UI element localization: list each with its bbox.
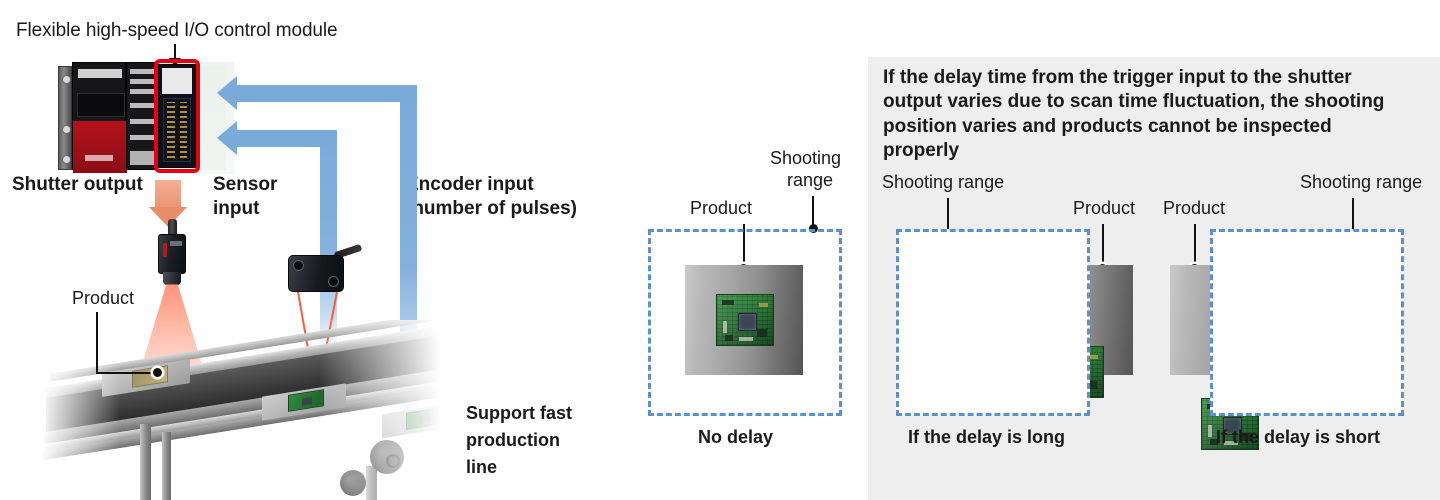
- sensor-input-label-line2: input: [213, 198, 259, 220]
- support-label-line1: Support fast: [466, 403, 572, 424]
- long-product-label: Product: [1073, 198, 1135, 219]
- delay-problem-heading: If the delay time from the trigger input…: [883, 66, 1428, 163]
- heading-line-1: If the delay time from the trigger input…: [883, 66, 1428, 90]
- camera-icon: [158, 234, 186, 274]
- long-shooting-range-label: Shooting range: [882, 172, 1004, 193]
- long-caption: If the delay is long: [908, 427, 1065, 448]
- photoelectric-sensor-icon: [288, 255, 344, 292]
- support-label-line2: production: [466, 430, 560, 451]
- short-product-label: Product: [1163, 198, 1225, 219]
- plc-slot-module-icon: [126, 62, 156, 170]
- middle-product-label: Product: [690, 198, 752, 219]
- plc-cpu-module-icon: [72, 62, 126, 170]
- plc-module-assembly: [58, 58, 234, 180]
- encoder-input-label-line2: (number of pulses): [406, 198, 577, 220]
- conveyor-product-leader-v: [96, 312, 98, 374]
- encoder-arrow-horizontal: [237, 85, 407, 102]
- heading-line-2: output varies due to scan time fluctuati…: [883, 90, 1428, 114]
- encoder-input-label-line1: Encoder input: [406, 174, 534, 196]
- heading-line-4: properly: [883, 139, 1428, 163]
- shutter-output-arrow-shaft: [155, 180, 181, 208]
- arrow-left-icon-2: [217, 121, 237, 155]
- conveyor-belt-icon: [40, 320, 440, 500]
- shutter-output-label: Shutter output: [12, 174, 143, 196]
- conveyor-product-label: Product: [72, 288, 134, 309]
- sensor-input-label-line1: Sensor: [213, 174, 277, 196]
- plc-power-supply-icon: [58, 66, 72, 170]
- support-label-line3: line: [466, 457, 497, 478]
- short-shooting-range-box: [1210, 229, 1404, 416]
- page-title: Flexible high-speed I/O control module: [16, 20, 337, 42]
- short-caption: If the delay is short: [1216, 427, 1380, 448]
- long-shooting-range-box: [896, 229, 1090, 416]
- diagram-canvas: Flexible high-speed I/O control module: [0, 0, 1440, 500]
- sensor-arrow-horizontal: [237, 130, 329, 147]
- heading-line-3: position varies and products cannot be i…: [883, 115, 1428, 139]
- conveyor-product-leader-dot: [153, 368, 162, 377]
- middle-shooting-range-label-line2: range: [787, 170, 833, 191]
- camera-lens: [163, 272, 181, 285]
- arrow-left-icon: [217, 76, 237, 110]
- middle-shooting-range-label-line1: Shooting: [770, 148, 841, 169]
- middle-caption: No delay: [698, 427, 773, 448]
- conveyor-product-leader-h: [96, 372, 158, 374]
- sensor-arrow-vertical: [320, 130, 337, 345]
- short-shooting-range-label: Shooting range: [1300, 172, 1422, 193]
- highlight-frame: [154, 59, 200, 173]
- circuit-board-icon: [716, 294, 774, 346]
